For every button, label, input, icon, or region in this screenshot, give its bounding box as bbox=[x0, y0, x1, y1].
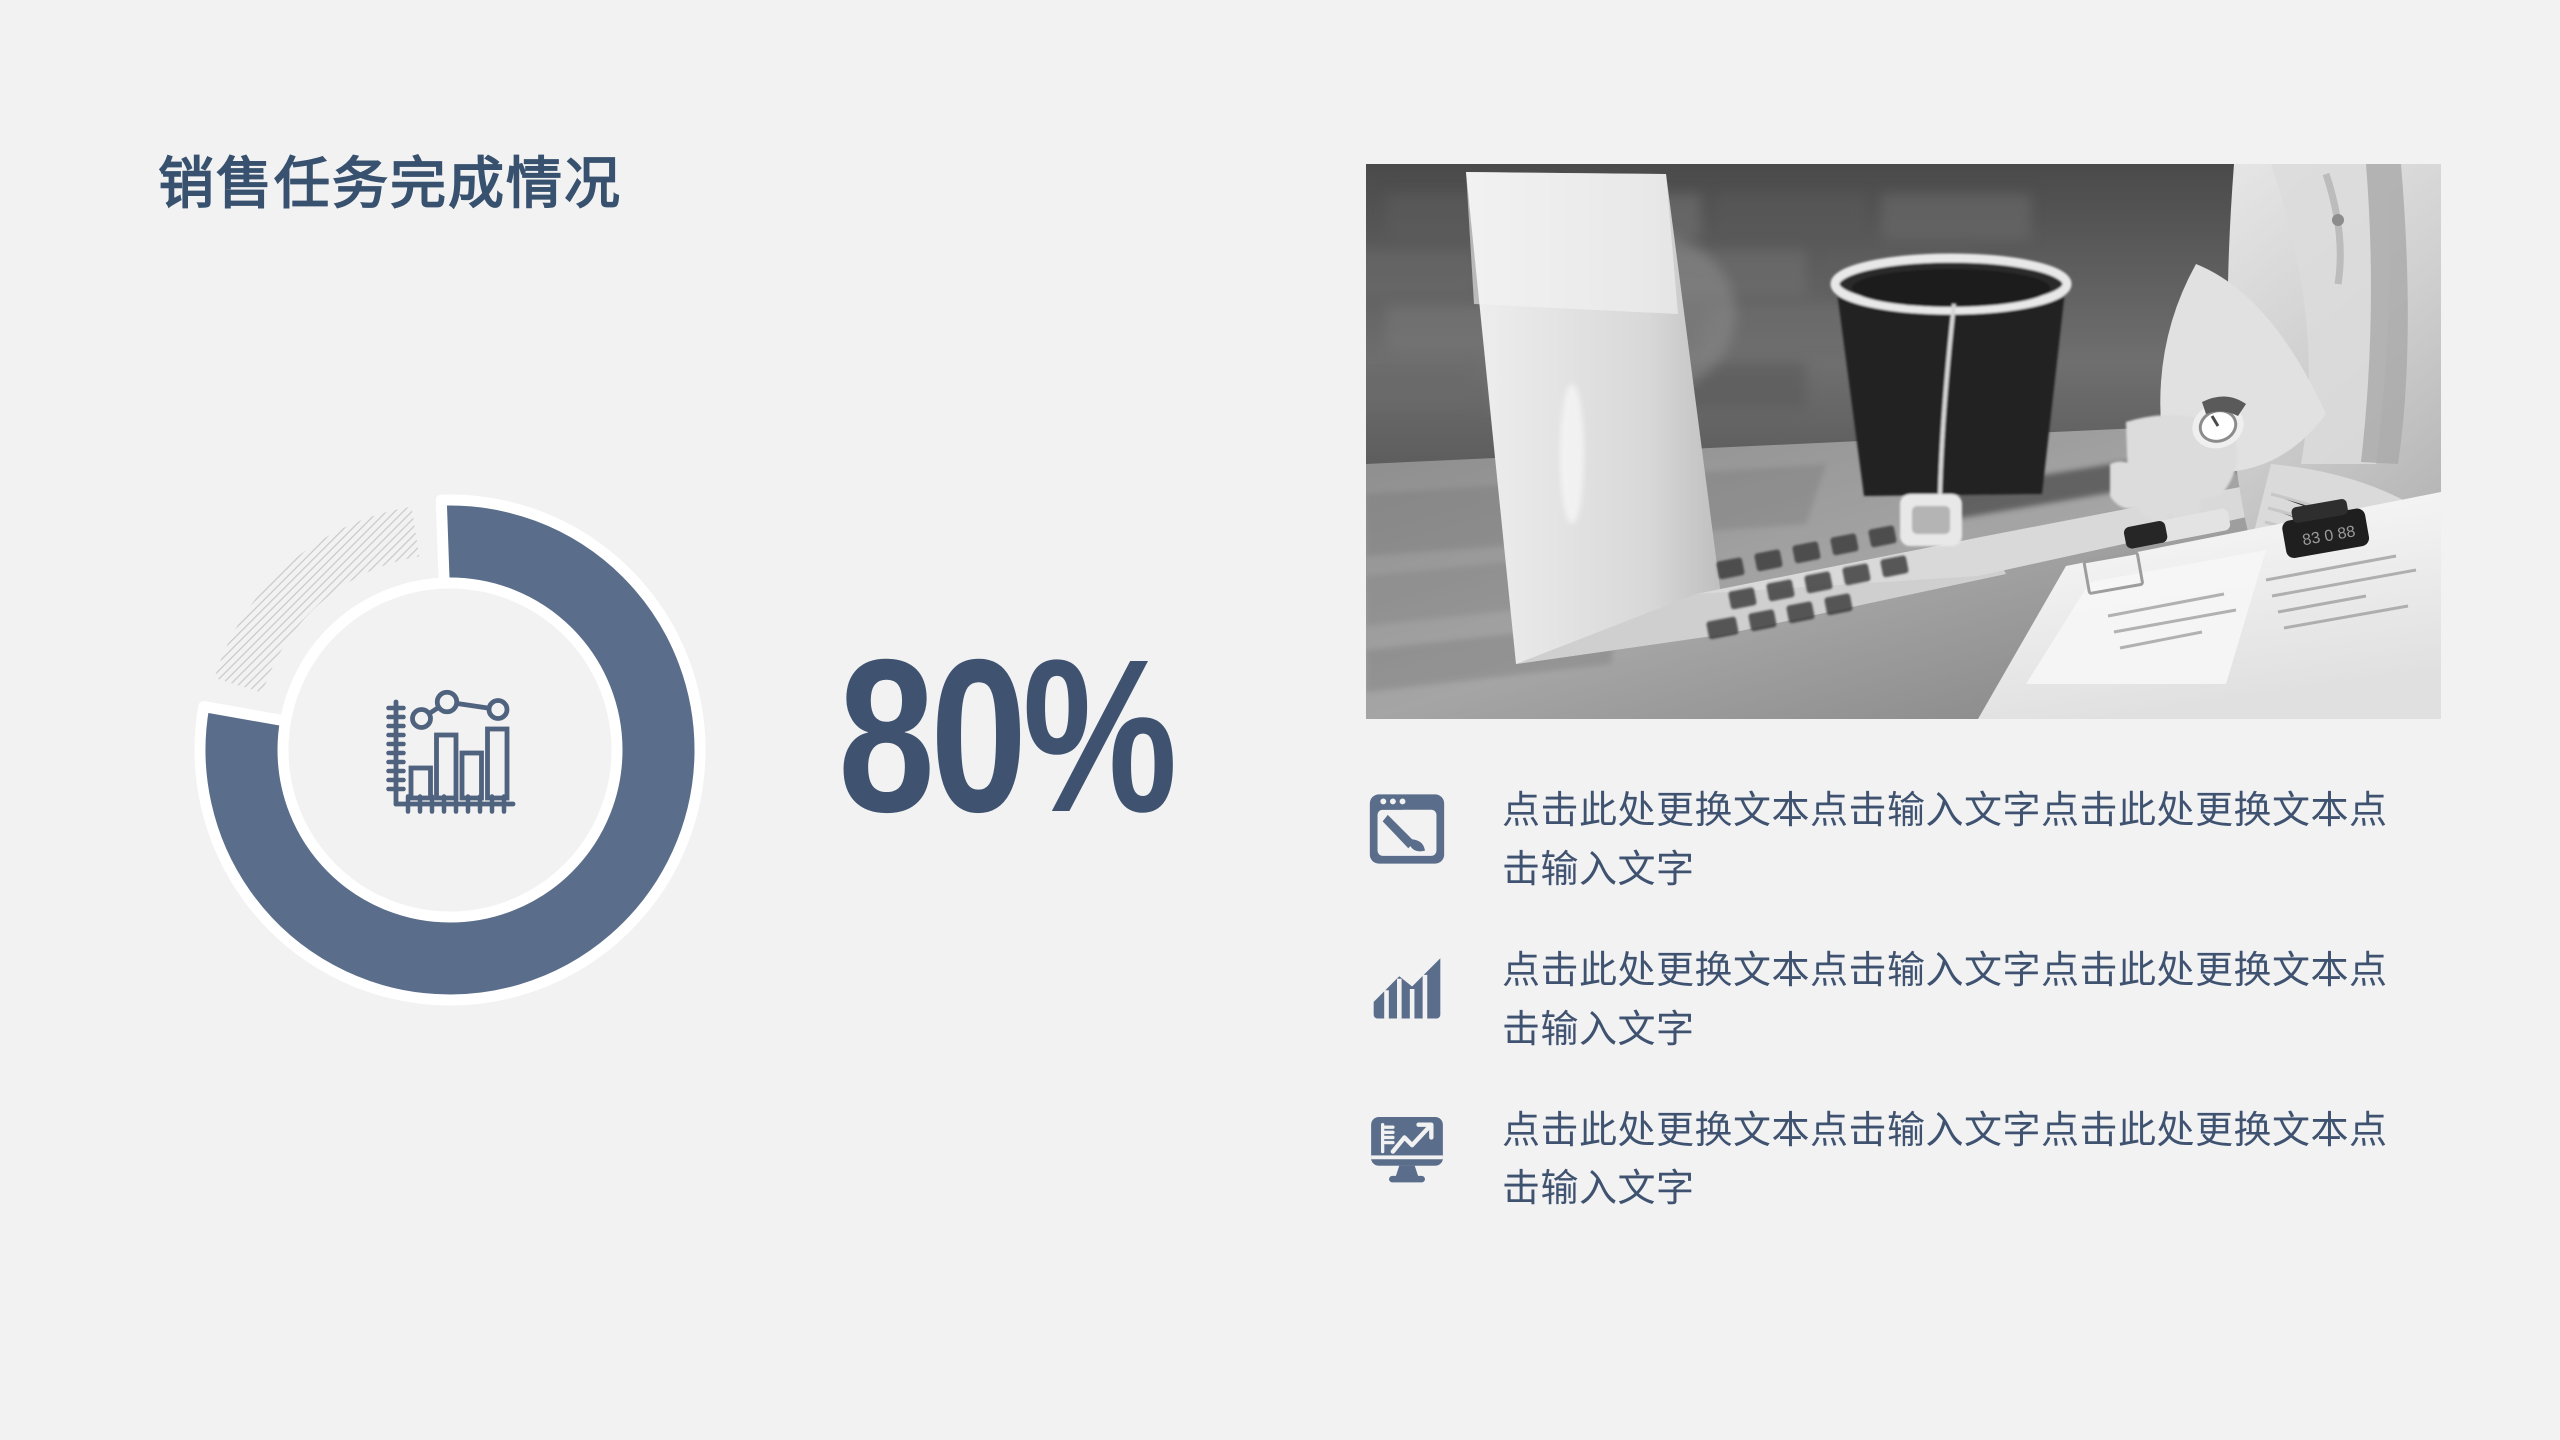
bar-line-chart-icon bbox=[375, 678, 525, 828]
bar-chart-growth-icon bbox=[1366, 948, 1448, 1030]
hero-photo: 83 0 88 bbox=[1366, 164, 2441, 719]
browser-paintbrush-icon bbox=[1366, 788, 1448, 870]
completion-percentage: 80% bbox=[838, 628, 1173, 846]
list-item-text: 点击此处更换文本点击输入文字点击此处更换文本点击输入文字 bbox=[1502, 1102, 2402, 1220]
donut-chart bbox=[150, 450, 750, 1050]
list-item[interactable]: 点击此处更换文本点击输入文字点击此处更换文本点击输入文字 bbox=[1366, 1102, 2446, 1220]
list-item-text: 点击此处更换文本点击输入文字点击此处更换文本点击输入文字 bbox=[1502, 782, 2402, 900]
hero-photo-image: 83 0 88 bbox=[1366, 164, 2441, 719]
list-item[interactable]: 点击此处更换文本点击输入文字点击此处更换文本点击输入文字 bbox=[1366, 782, 2446, 900]
bullet-list: 点击此处更换文本点击输入文字点击此处更换文本点击输入文字 点击此处更换文本点击输… bbox=[1366, 782, 2446, 1219]
page-title: 销售任务完成情况 bbox=[158, 152, 622, 216]
slide-root: 销售任务完成情况 bbox=[0, 0, 2560, 1440]
monitor-trend-arrow-icon bbox=[1366, 1108, 1448, 1190]
list-item[interactable]: 点击此处更换文本点击输入文字点击此处更换文本点击输入文字 bbox=[1366, 942, 2446, 1060]
list-item-text: 点击此处更换文本点击输入文字点击此处更换文本点击输入文字 bbox=[1502, 942, 2402, 1060]
